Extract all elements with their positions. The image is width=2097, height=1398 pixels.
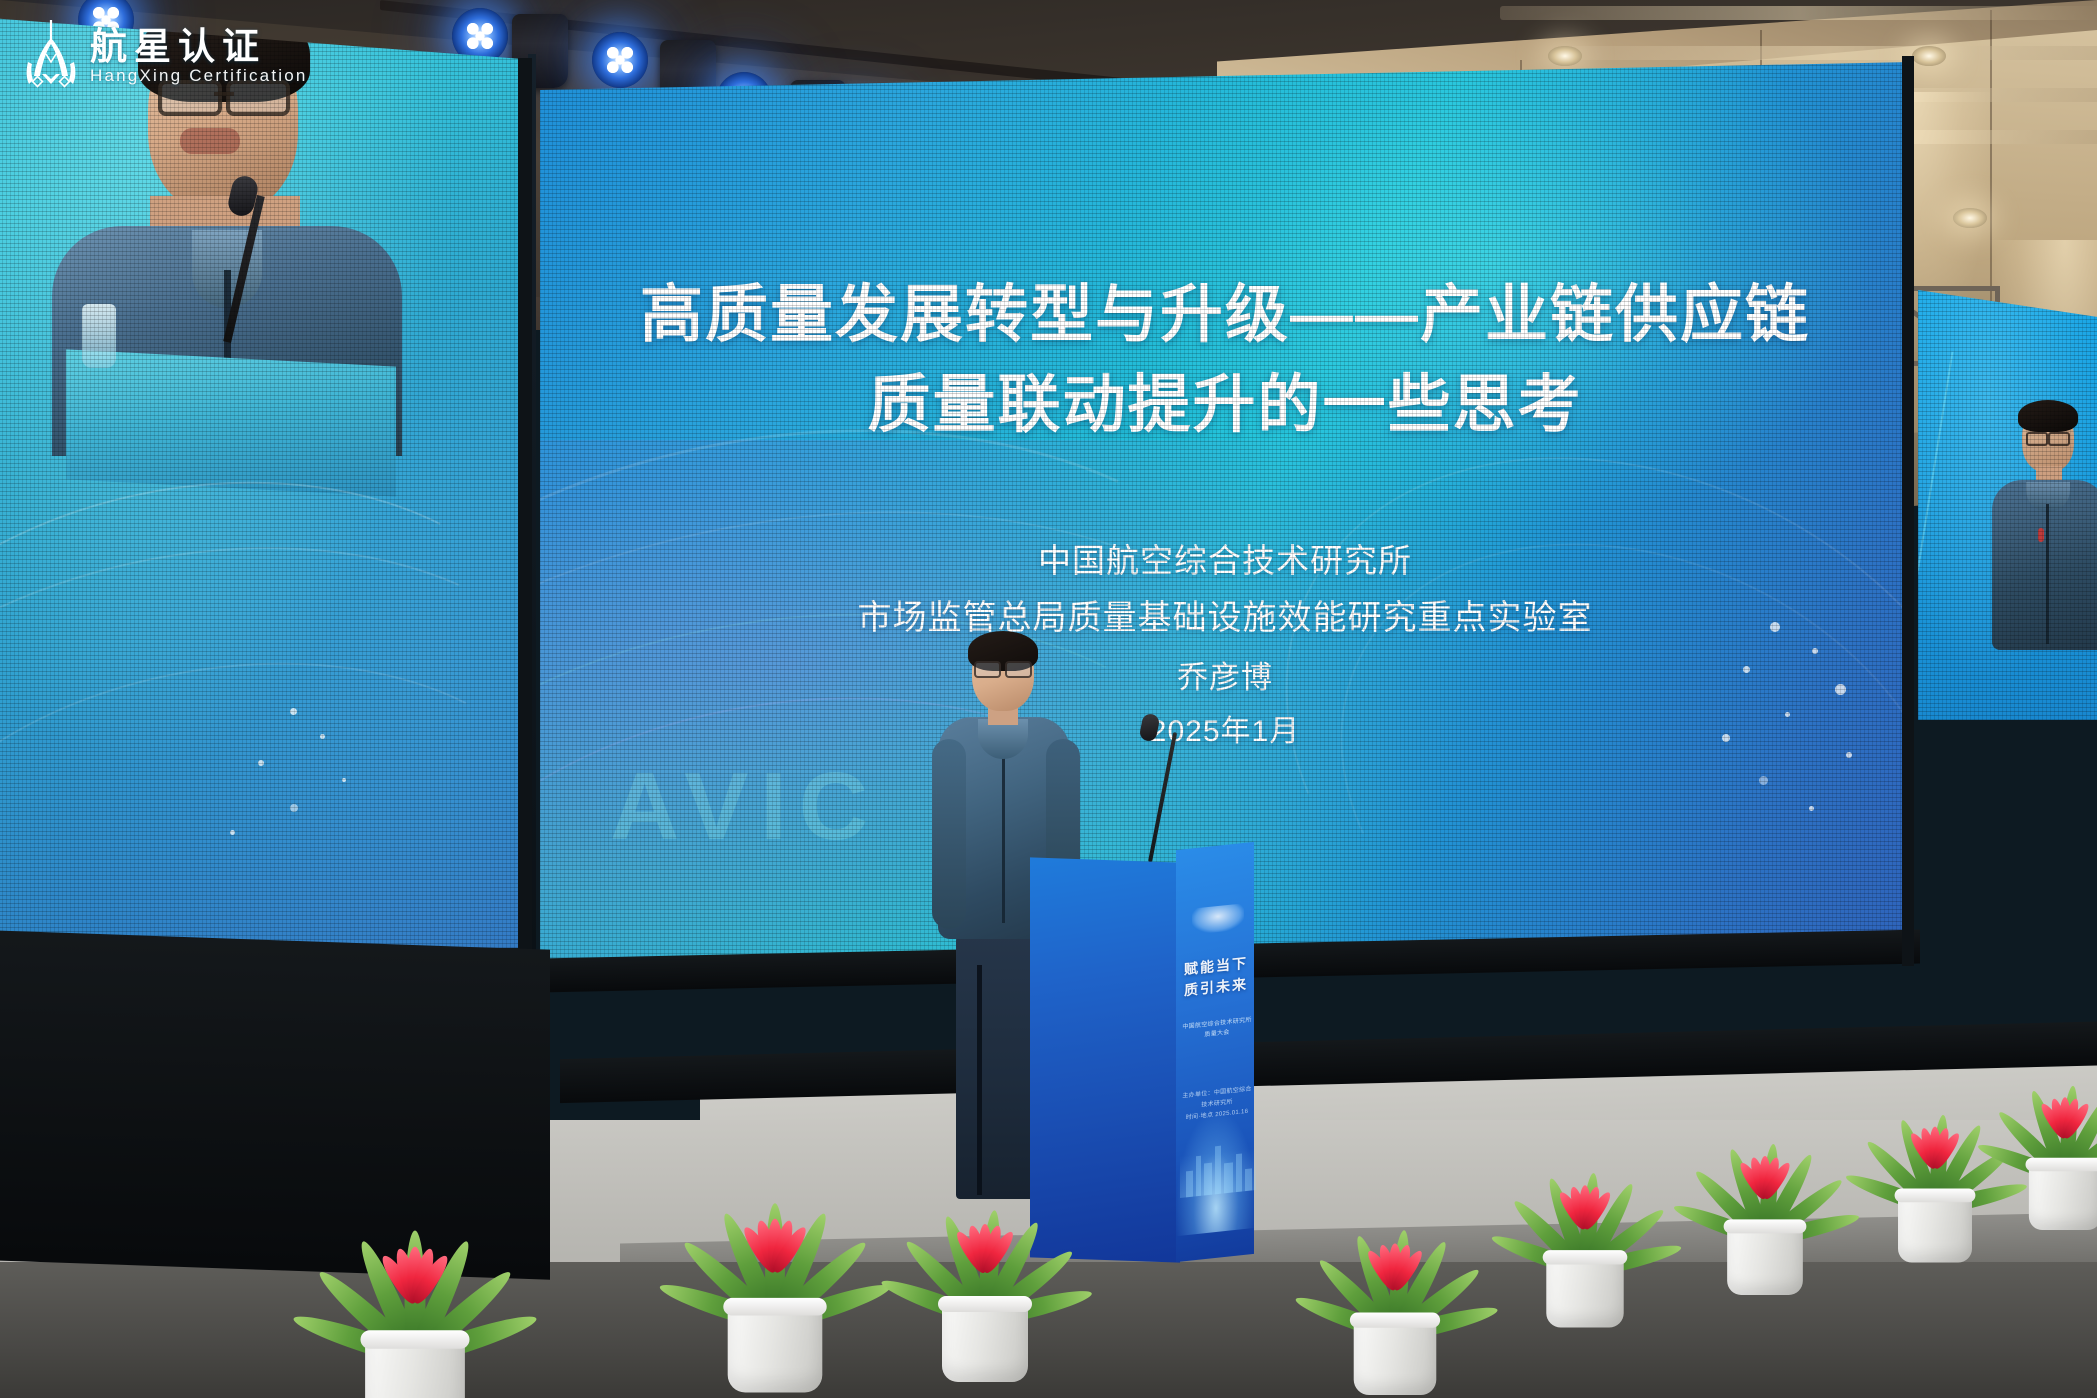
- slide-org-line1: 中国航空综合技术研究所: [622, 534, 1828, 582]
- bromeliad-bloom: [2036, 1070, 2095, 1137]
- bromeliad-bloom: [737, 1184, 814, 1272]
- flower-pot: [1546, 1254, 1623, 1328]
- bromeliad-bloom: [374, 1210, 455, 1303]
- flower-pot: [1898, 1192, 1972, 1263]
- ceiling-slat: [1500, 6, 2097, 20]
- potted-plant: [1491, 1103, 1680, 1328]
- bromeliad-bloom: [1554, 1157, 1617, 1229]
- hangxing-logo-icon: [1192, 903, 1244, 934]
- flower-pot: [365, 1335, 465, 1398]
- potted-plant: [293, 1140, 537, 1398]
- watermark-brand-cn: 航星认证: [90, 16, 266, 70]
- water-bottle-icon: [82, 304, 116, 368]
- rocket-monument-icon: [20, 18, 82, 90]
- bromeliad-bloom: [950, 1192, 1020, 1272]
- slide-title-line2: 质量联动提升的一些思考: [595, 367, 1855, 444]
- conference-stage-photo: 航星认证 HangXing Certification AVIC: [0, 0, 2097, 1398]
- potted-plant: [1673, 1075, 1858, 1295]
- closeup-podium: [66, 349, 396, 496]
- watermark-logo: 航星认证 HangXing Certification: [18, 14, 338, 96]
- screen-bezel-right: [1902, 56, 1914, 966]
- flower-pot: [942, 1300, 1028, 1382]
- led-screen-left: [0, 18, 535, 948]
- bromeliad-bloom: [1905, 1099, 1965, 1168]
- slide-org-line2: 市场监管总局质量基础设施效能研究重点实验室: [622, 590, 1828, 639]
- flower-pot: [728, 1302, 823, 1392]
- slide-title-line1: 高质量发展转型与升级——产业链供应链: [595, 277, 1855, 354]
- podium-slogan: 赋能当下 质引未来: [1180, 952, 1252, 1002]
- ceiling-slat: [1560, 46, 2097, 60]
- potted-plant: [660, 1118, 891, 1393]
- slide-text-block: 高质量发展转型与升级——产业链供应链 质量联动提升的一些思考 中国航空综合技术研…: [540, 62, 1910, 962]
- podium-skyline-graphic: [1180, 1120, 1256, 1198]
- flower-pot: [1354, 1316, 1437, 1395]
- led-screen-right: [1918, 290, 2097, 720]
- slide-date: 2025年1月: [622, 706, 1828, 750]
- flower-pot: [1727, 1223, 1803, 1295]
- glasses-icon: [974, 661, 1032, 674]
- potted-plant: [1977, 1020, 2097, 1230]
- potted-plant: [880, 1132, 1090, 1382]
- speaker-jacket-zipper: [1002, 743, 1005, 923]
- led-screen-main: AVIC 高质量发展转型与升级——产业链供应链 质量联动提升的一些思考 中国航空…: [540, 62, 1910, 962]
- downlight-icon: [1548, 46, 1582, 66]
- stage-light-icon: [592, 32, 648, 88]
- speaker-arm-left: [932, 739, 966, 929]
- potted-plant: [1294, 1155, 1496, 1395]
- watermark-brand-en: HangXing Certification: [90, 66, 308, 86]
- slide-presenter: 乔彦博: [622, 652, 1828, 697]
- flower-pot: [2029, 1161, 2097, 1230]
- bromeliad-bloom: [1734, 1128, 1796, 1198]
- downlight-icon: [1912, 46, 1946, 66]
- screen-bezel-left: [518, 58, 532, 958]
- bromeliad-bloom: [1361, 1213, 1428, 1290]
